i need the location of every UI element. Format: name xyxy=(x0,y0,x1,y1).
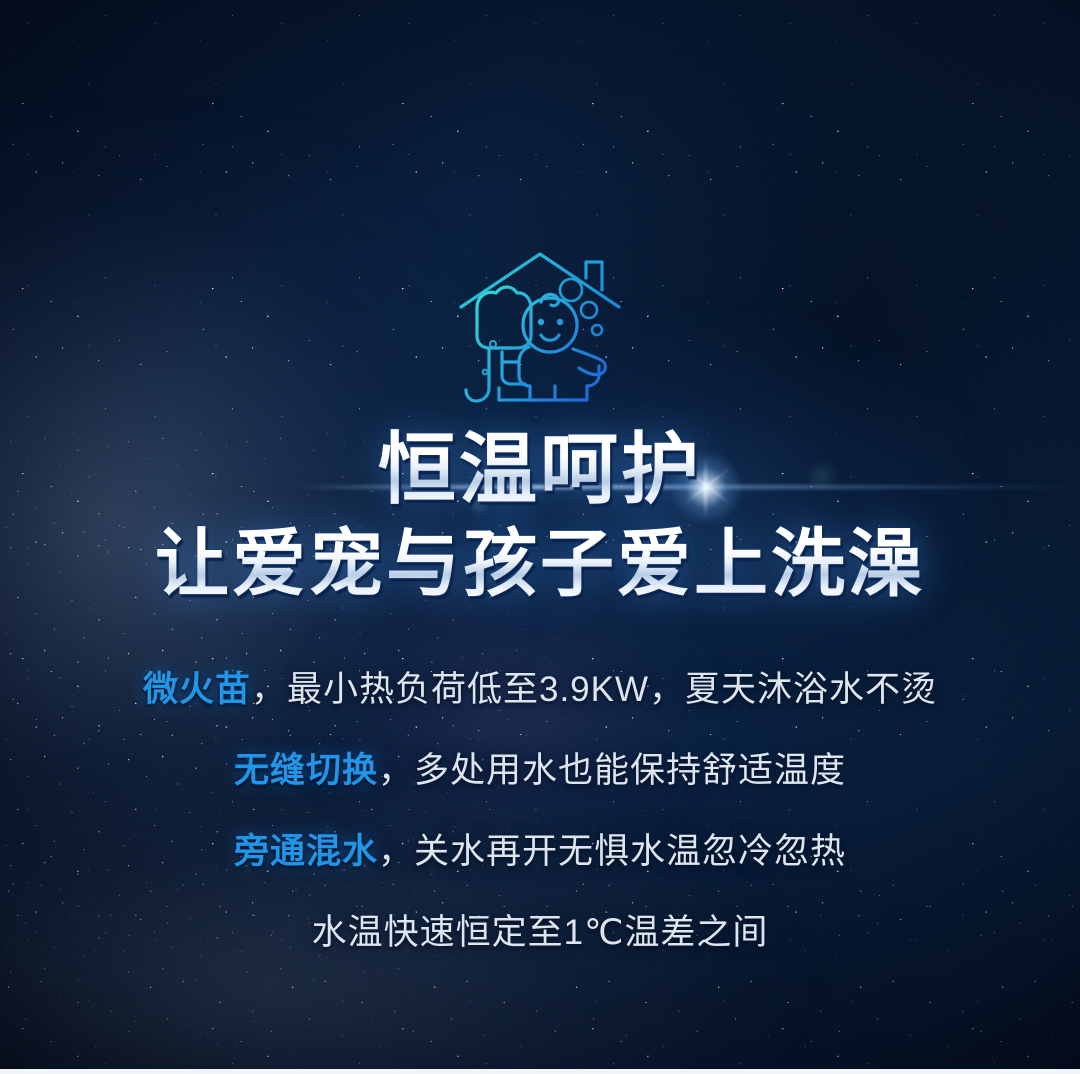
bottom-white-strip xyxy=(0,1069,1080,1074)
feature-keyword-1: 微火苗 xyxy=(143,670,251,709)
feature-line-2: 无缝切换，多处用水也能保持舒适温度 xyxy=(0,753,1080,788)
feature-separator-1: ， xyxy=(251,670,287,709)
feature-text-1: 最小热负荷低至3.9KW，夏天沐浴水不烫 xyxy=(287,670,937,709)
feature-keyword-3: 旁通混水 xyxy=(234,832,378,871)
promo-poster: 恒温呵护 让爱宠与孩子爱上洗澡 微火苗，最小热负荷低至3.9KW，夏天沐浴水不烫… xyxy=(0,0,1080,1074)
feature-text-2: 多处用水也能保持舒适温度 xyxy=(414,751,846,790)
feature-line-3: 旁通混水，关水再开无惧水温忽冷忽热 xyxy=(0,834,1080,869)
title-block: 恒温呵护 让爱宠与孩子爱上洗澡 xyxy=(0,428,1080,603)
feature-line-4: 水温快速恒定至1℃温差之间 xyxy=(0,915,1080,950)
feature-keyword-2: 无缝切换 xyxy=(234,751,378,790)
feature-line-1: 微火苗，最小热负荷低至3.9KW，夏天沐浴水不烫 xyxy=(0,672,1080,707)
title-line-2: 让爱宠与孩子爱上洗澡 xyxy=(0,525,1080,603)
feature-list: 微火苗，最小热负荷低至3.9KW，夏天沐浴水不烫 无缝切换，多处用水也能保持舒适… xyxy=(0,672,1080,950)
house-with-dog-and-baby-icon xyxy=(455,248,625,418)
feature-separator-2: ， xyxy=(378,751,414,790)
title-line-1: 恒温呵护 xyxy=(0,428,1080,511)
feature-separator-3: ， xyxy=(378,832,414,871)
feature-text-3: 关水再开无惧水温忽冷忽热 xyxy=(414,832,846,871)
feature-text-4: 水温快速恒定至1℃温差之间 xyxy=(312,913,769,952)
